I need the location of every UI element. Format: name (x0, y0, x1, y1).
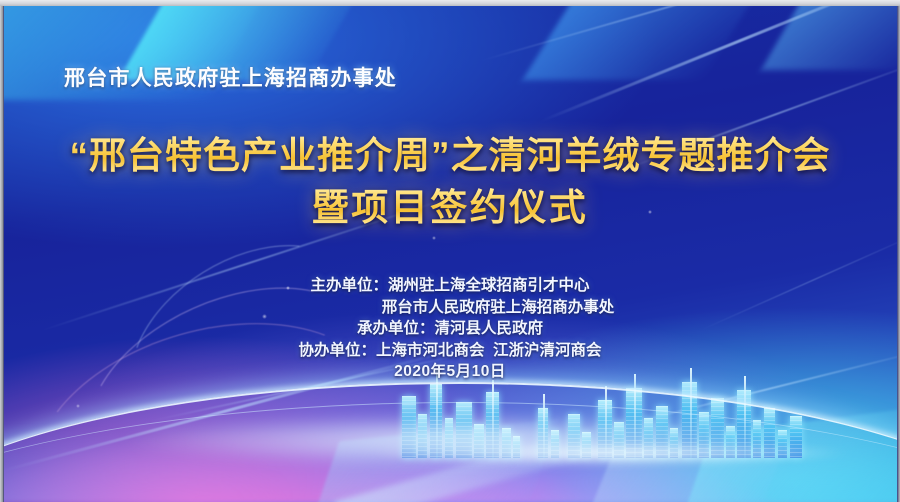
organizer-line: 承办单位：清河县人民政府 (0, 318, 900, 340)
sparkle (76, 404, 80, 408)
title-line-1: “邢台特色产业推介周”之清河羊绒专题推介会 (0, 130, 900, 182)
page-title: “邢台特色产业推介周”之清河羊绒专题推介会 暨项目签约仪式 (0, 130, 900, 234)
poster-image: 邢台市人民政府驻上海招商办事处 “邢台特色产业推介周”之清河羊绒专题推介会 暨项… (0, 0, 900, 502)
host-line-2: 邢台市人民政府驻上海招商办事处 (0, 297, 900, 319)
coorganizer-line: 协办单位：上海市河北商会 江浙沪清河商会 (0, 340, 900, 362)
organizer-header: 邢台市人民政府驻上海招商办事处 (64, 62, 397, 92)
event-date: 2020年5月10日 (0, 361, 900, 383)
host-line-1: 主办单位：湖州驻上海全球招商引才中心 (0, 275, 900, 297)
screenshot-left-edge (0, 6, 4, 502)
title-line-2: 暨项目签约仪式 (0, 182, 900, 234)
screenshot-top-edge (0, 0, 900, 6)
sparkle (432, 236, 436, 240)
credits-block: 主办单位：湖州驻上海全球招商引才中心 邢台市人民政府驻上海招商办事处 承办单位：… (0, 275, 900, 383)
